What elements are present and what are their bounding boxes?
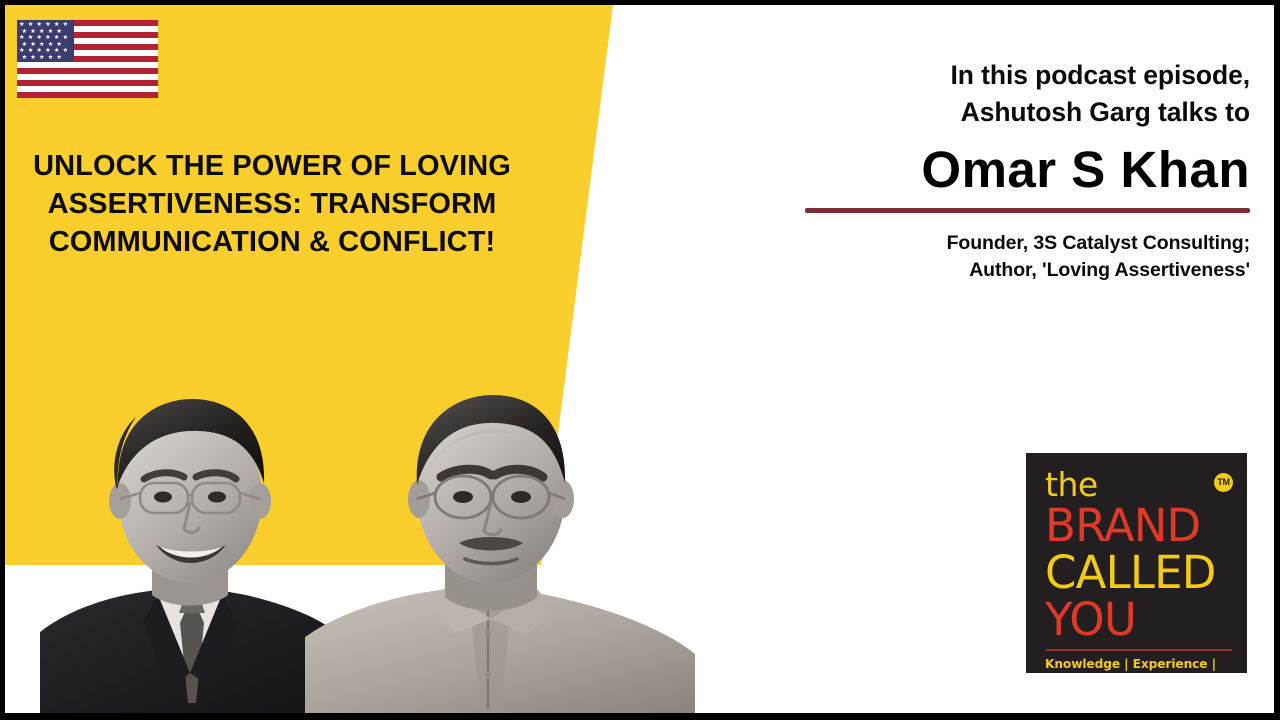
intro-line-2: Ashutosh Garg talks to [805,94,1250,131]
host-portrait-ashutosh-garg [40,373,340,713]
flag-stars: ★ ★ ★ ★ ★ ★ ★ ★ ★ ★ ★ ★ ★ ★ ★ ★ ★ ★ ★ ★ … [17,20,74,62]
brand-called-you-logo: TM the BRAND CALLED YOU Knowledge | Expe… [1026,453,1247,673]
trademark-badge-icon: TM [1214,473,1233,492]
logo-divider [1046,649,1232,651]
logo-tagline: Knowledge | Experience | Wisdom [1045,657,1234,674]
logo-line-called: CALLED [1045,549,1234,596]
episode-headline: UNLOCK THE POWER OF LOVING ASSERTIVENESS… [27,147,517,261]
accent-rule-divider [805,208,1250,213]
episode-info-block: In this podcast episode, Ashutosh Garg t… [805,57,1250,284]
united-states-flag-icon: ★ ★ ★ ★ ★ ★ ★ ★ ★ ★ ★ ★ ★ ★ ★ ★ ★ ★ ★ ★ … [17,20,158,98]
podcast-episode-poster: ★ ★ ★ ★ ★ ★ ★ ★ ★ ★ ★ ★ ★ ★ ★ ★ ★ ★ ★ ★ … [0,0,1280,720]
logo-line-you: YOU [1045,596,1234,643]
guest-title-line-1: Founder, 3S Catalyst Consulting; [805,230,1250,257]
poster-canvas: ★ ★ ★ ★ ★ ★ ★ ★ ★ ★ ★ ★ ★ ★ ★ ★ ★ ★ ★ ★ … [5,5,1274,713]
intro-line-1: In this podcast episode, [805,57,1250,94]
guest-name: Omar S Khan [805,139,1250,201]
logo-line-brand: BRAND [1045,502,1234,549]
guest-portrait-omar-s-khan [305,383,695,713]
guest-title-line-2: Author, 'Loving Assertiveness' [805,257,1250,284]
logo-line-the: the [1045,468,1234,502]
